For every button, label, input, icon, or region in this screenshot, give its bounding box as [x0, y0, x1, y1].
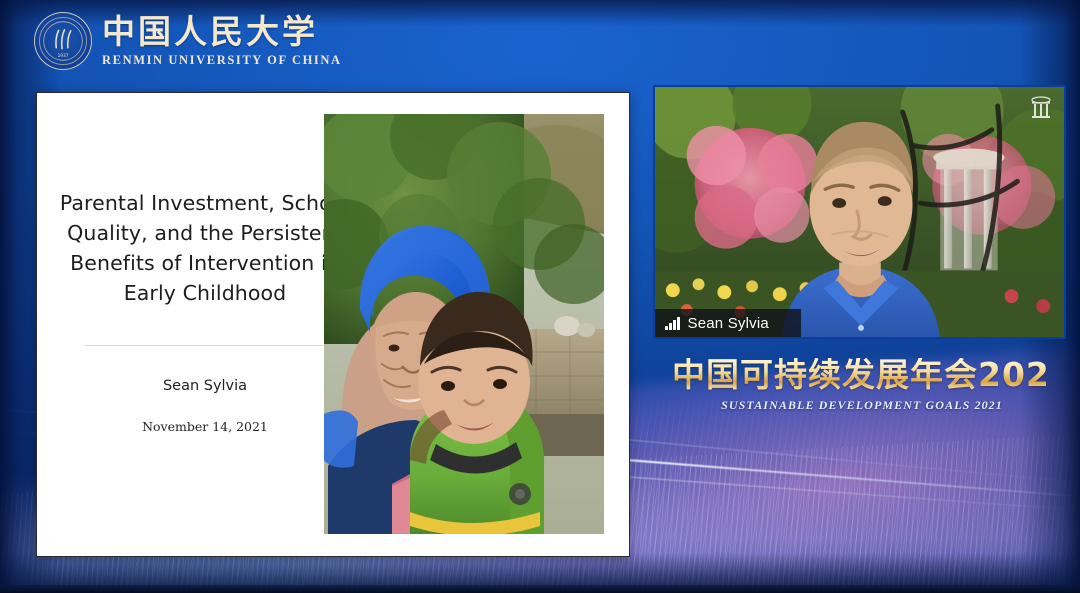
presentation-stage: 1937 中国人民大学 RENMIN UNIVERSITY OF CHINA P…: [0, 0, 1080, 593]
conference-branding: 中国可持续发展年会2021 SUSTAINABLE DEVELOPMENT GO…: [672, 358, 1052, 413]
university-logo: 1937 中国人民大学 RENMIN UNIVERSITY OF CHINA: [34, 12, 342, 70]
university-name-cn: 中国人民大学: [102, 15, 342, 48]
conference-title-cn: 中国可持续发展年会2021: [672, 358, 1052, 391]
university-name-en: RENMIN UNIVERSITY OF CHINA: [102, 54, 342, 67]
slide-panel[interactable]: Parental Investment, School Quality, and…: [36, 92, 630, 557]
backdrop-bottom-edge: [0, 585, 1080, 593]
conference-subtitle-en: SUSTAINABLE DEVELOPMENT GOALS 2021: [672, 398, 1052, 413]
participant-name-tag: Sean Sylvia: [655, 309, 801, 337]
slide-author: Sean Sylvia: [163, 378, 247, 394]
old-well-rotunda-icon: [1030, 95, 1052, 121]
slide-photo: [324, 114, 604, 534]
slide-text-column: Parental Investment, School Quality, and…: [37, 93, 373, 556]
slide-date: November 14, 2021: [142, 419, 268, 434]
slide-title: Parental Investment, School Quality, and…: [59, 189, 351, 309]
university-seal-icon: 1937: [34, 12, 92, 70]
video-tile[interactable]: Sean Sylvia: [653, 85, 1066, 339]
slide-divider: [85, 345, 325, 346]
svg-text:1937: 1937: [58, 53, 69, 58]
participant-name: Sean Sylvia: [688, 315, 769, 332]
signal-bars-icon: [665, 317, 680, 330]
